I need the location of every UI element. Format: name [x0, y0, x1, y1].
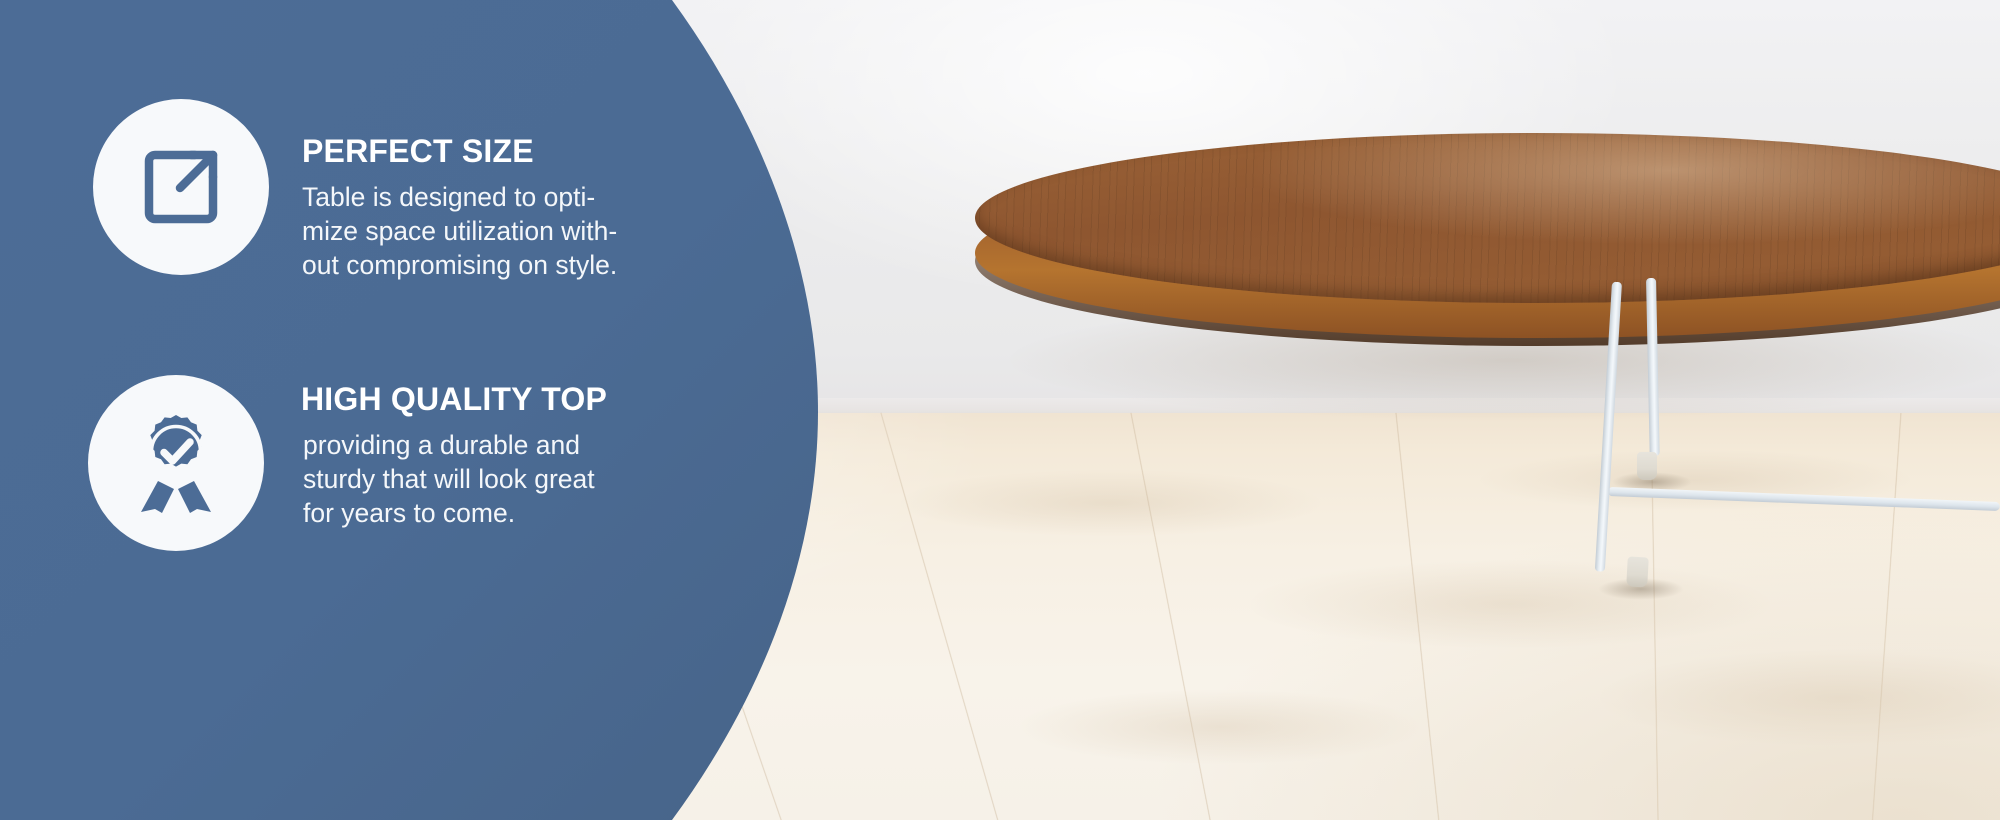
feature-icon-circle [88, 375, 264, 551]
feature-description-line: providing a durable and [303, 430, 580, 460]
panel-content: PERFECT SIZE Table is designed to opti- … [0, 0, 820, 820]
feature-description-line: out compromising on style. [302, 248, 641, 282]
feature-description-line: mize space utilization with- [302, 214, 641, 248]
table-foot-rear-cap [1637, 452, 1657, 480]
feature-block-perfect-size: PERFECT SIZE Table is designed to opti- … [93, 99, 641, 283]
feature-description: Table is designed to opti- mize space ut… [302, 180, 641, 283]
table-foot-front-cap [1626, 556, 1649, 587]
feature-text-group: PERFECT SIZE Table is designed to opti- … [269, 99, 641, 283]
award-ribbon-check-icon [128, 413, 224, 513]
feature-block-high-quality-top: HIGH QUALITY TOP providing a durable and… [88, 375, 644, 551]
external-link-expand-icon [135, 141, 227, 233]
product-feature-banner: PERFECT SIZE Table is designed to opti- … [0, 0, 2000, 820]
table-cross-rail [1608, 487, 2000, 511]
feature-description-line: for years to come. [303, 498, 515, 528]
feature-description-line: sturdy that will look great [303, 464, 595, 494]
feature-icon-circle [93, 99, 269, 275]
feature-title: PERFECT SIZE [302, 135, 641, 169]
feature-description: providing a durable and sturdy that will… [301, 428, 644, 531]
feature-title: HIGH QUALITY TOP [301, 383, 644, 417]
feature-description-line: Table is designed to opti- [302, 180, 641, 214]
feature-text-group: HIGH QUALITY TOP providing a durable and… [264, 375, 644, 531]
